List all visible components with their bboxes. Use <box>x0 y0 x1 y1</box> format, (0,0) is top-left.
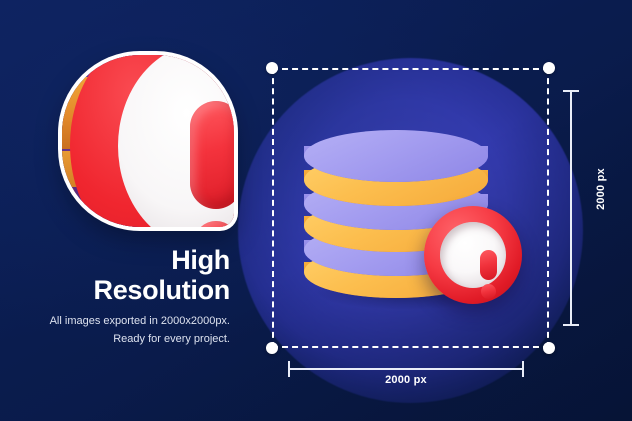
page-title: High Resolution <box>14 246 230 305</box>
height-dimension-label: 2000 px <box>595 149 607 229</box>
selection-handle-top-left[interactable] <box>266 62 278 74</box>
width-dimension-line <box>288 368 524 370</box>
thumbnail-content <box>62 55 234 227</box>
page-subtitle: All images exported in 2000x2000px. Read… <box>30 313 230 349</box>
height-dimension-line <box>570 90 572 326</box>
selection-handle-bottom-right[interactable] <box>543 342 555 354</box>
thumb-exclamation-bar-icon <box>190 101 234 209</box>
selection-bounding-box[interactable] <box>272 68 549 348</box>
height-dimension-cap-top <box>563 90 579 92</box>
width-dimension-cap-left <box>288 361 290 377</box>
selection-handle-bottom-left[interactable] <box>266 342 278 354</box>
width-dimension-label: 2000 px <box>326 374 486 386</box>
poster-canvas: High Resolution All images exported in 2… <box>0 0 632 421</box>
headline-line-1: High <box>171 245 230 275</box>
selection-handle-top-right[interactable] <box>543 62 555 74</box>
width-dimension-cap-right <box>522 361 524 377</box>
icon-closeup-preview <box>62 55 234 227</box>
headline-line-2: Resolution <box>14 276 230 306</box>
height-dimension-cap-bottom <box>563 324 579 326</box>
